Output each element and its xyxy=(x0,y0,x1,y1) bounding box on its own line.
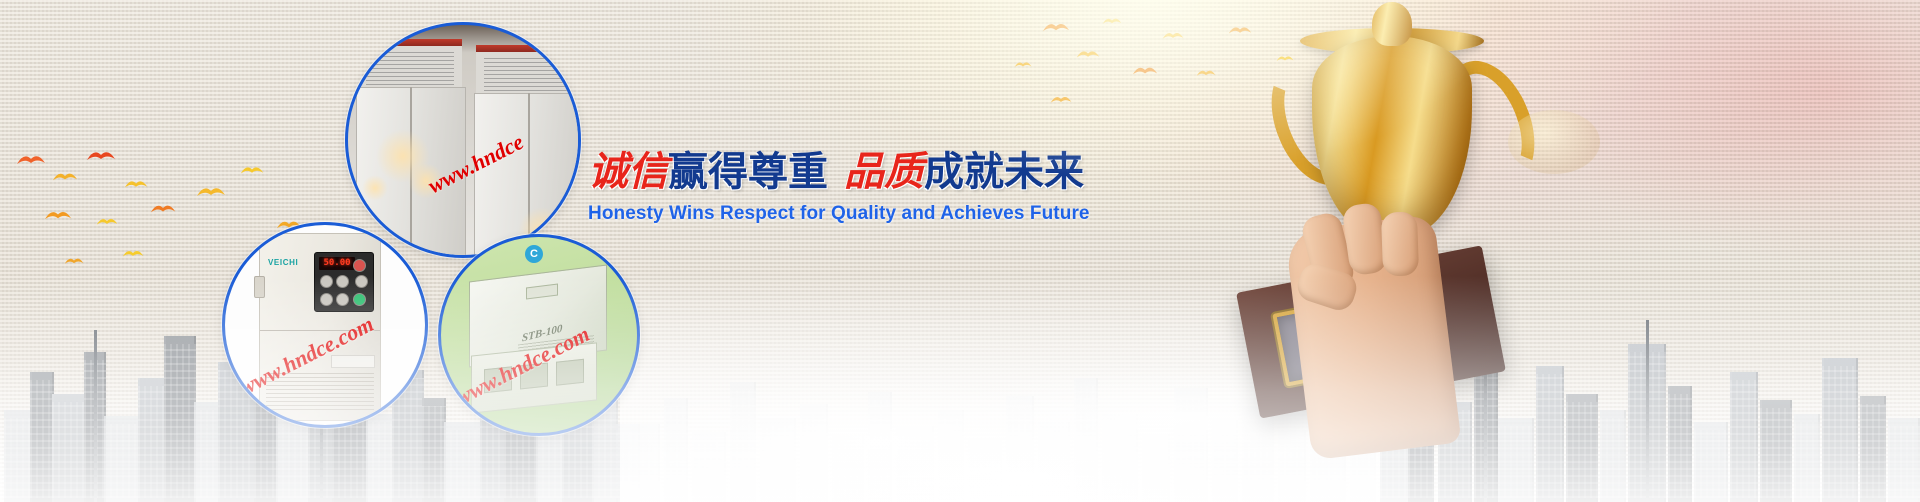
product-circle-control-box[interactable]: STB-100 C www.hndce.com xyxy=(438,234,640,436)
slogan-block: 诚信赢得尊重品质成就未来 Honesty Wins Respect for Qu… xyxy=(588,152,1058,225)
bird-icon xyxy=(64,254,84,267)
bird-icon xyxy=(196,182,226,200)
bird-icon xyxy=(52,168,78,184)
inverter-warning-text xyxy=(266,370,374,410)
slogan-cn-segment-3: 品质 xyxy=(844,149,924,195)
certification-badge: C xyxy=(525,245,543,263)
slogan-cn-segment-4: 成就未来 xyxy=(924,149,1084,195)
inverter-body: VEICHI 50.00 xyxy=(259,233,381,421)
slogan-chinese: 诚信赢得尊重品质成就未来 xyxy=(588,152,1058,192)
product-circle-inverter[interactable]: VEICHI 50.00 www.hndce.com xyxy=(222,222,428,428)
inverter-spec-label xyxy=(331,355,375,368)
slogan-cn-segment-1: 诚信 xyxy=(588,149,668,195)
inverter-display: 50.00 xyxy=(319,257,355,270)
bird-icon xyxy=(96,214,118,228)
finger xyxy=(1381,211,1419,276)
bird-icon xyxy=(44,206,72,223)
product-circle-cabinets[interactable]: www.hndce xyxy=(345,22,581,258)
trophy-finial xyxy=(1372,2,1412,46)
bird-icon xyxy=(124,176,148,191)
slogan-cn-segment-2: 赢得尊重 xyxy=(668,149,828,195)
trophy-cup xyxy=(1312,36,1472,236)
control-box-front xyxy=(471,342,597,413)
bird-icon xyxy=(86,146,116,164)
bird-icon xyxy=(16,150,46,168)
slogan-english: Honesty Wins Respect for Quality and Ach… xyxy=(588,203,1058,225)
bird-icon xyxy=(1014,58,1032,70)
trophy-illustration: No. 1 xyxy=(1150,0,1620,502)
bird-icon xyxy=(240,162,264,177)
trophy-engraving-area xyxy=(1508,110,1600,174)
inverter-control-panel: 50.00 xyxy=(314,252,374,312)
bird-icon xyxy=(1050,92,1072,106)
veichi-brand-label: VEICHI xyxy=(268,258,298,267)
bird-icon xyxy=(1076,46,1100,61)
bird-icon xyxy=(1042,18,1070,35)
bird-icon xyxy=(150,200,176,216)
promotional-banner: www.hndce VEICHI 50.00 www.hndce.com xyxy=(0,0,1920,502)
bird-icon xyxy=(122,246,144,260)
bird-icon xyxy=(1102,14,1122,27)
